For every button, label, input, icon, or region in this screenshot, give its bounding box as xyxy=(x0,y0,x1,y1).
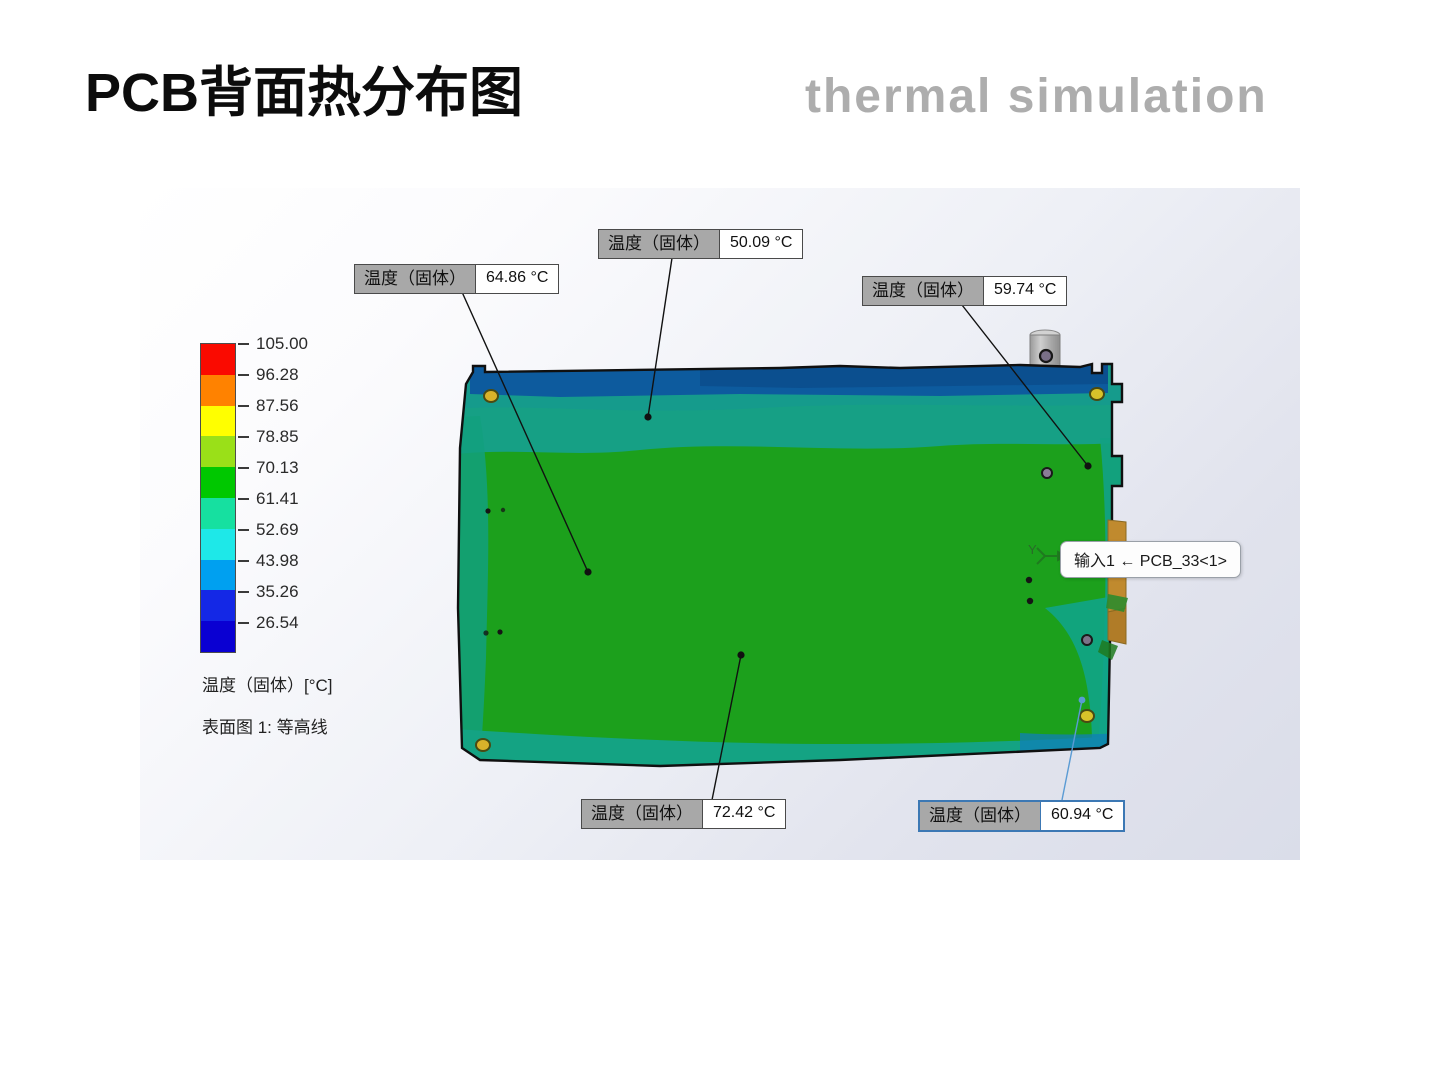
callout-value: 60.94 °C xyxy=(1041,802,1123,830)
callout-label: 温度（固体） xyxy=(920,802,1041,830)
callout-value: 64.86 °C xyxy=(476,265,558,293)
page-title: PCB背面热分布图 xyxy=(85,58,523,128)
callout-value: 72.42 °C xyxy=(703,800,785,828)
callout-label: 温度（固体） xyxy=(863,277,984,305)
callout-label: 温度（固体） xyxy=(599,230,720,258)
title-row: PCB背面热分布图 thermal simulation xyxy=(0,58,1440,138)
simulation-viewport[interactable]: 105.0096.2887.5678.8570.1361.4152.6943.9… xyxy=(140,188,1300,860)
callout-value: 50.09 °C xyxy=(720,230,802,258)
callout-label: 温度（固体） xyxy=(355,265,476,293)
callout-temperature-72[interactable]: 温度（固体） 72.42 °C xyxy=(581,799,786,829)
entity-tooltip[interactable]: 输入1 ← PCB_33<1> xyxy=(1060,541,1241,578)
axis-label-y: Y xyxy=(1028,542,1037,557)
slide-canvas: PCB背面热分布图 thermal simulation 105.0096.28… xyxy=(0,0,1440,1080)
callout-temperature-60[interactable]: 温度（固体） 60.94 °C xyxy=(918,800,1125,832)
callout-value: 59.74 °C xyxy=(984,277,1066,305)
callout-label: 温度（固体） xyxy=(582,800,703,828)
callout-temperature-64[interactable]: 温度（固体） 64.86 °C xyxy=(354,264,559,294)
edge-connector xyxy=(1108,520,1126,644)
callout-temperature-59[interactable]: 温度（固体） 59.74 °C xyxy=(862,276,1067,306)
pcb-model[interactable]: Y xyxy=(140,188,1300,860)
callout-temperature-50[interactable]: 温度（固体） 50.09 °C xyxy=(598,229,803,259)
page-subtitle: thermal simulation xyxy=(805,62,1268,132)
thermal-field xyxy=(440,348,1160,860)
